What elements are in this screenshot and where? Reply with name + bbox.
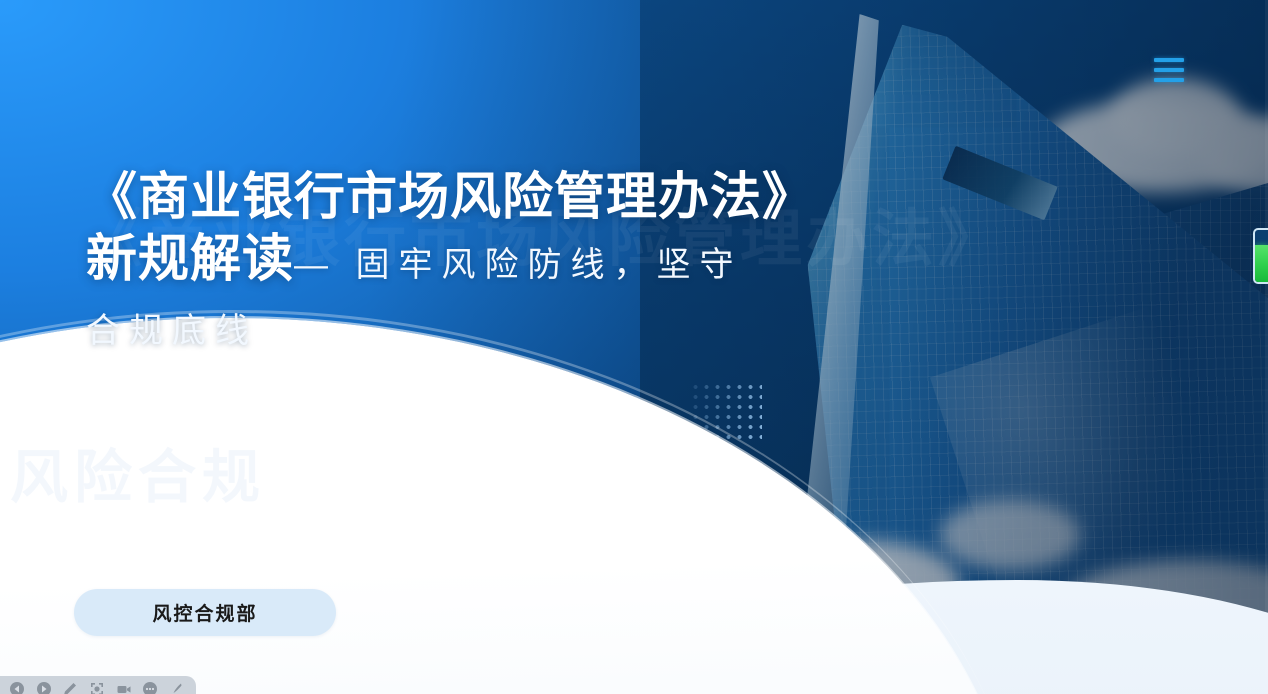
- presentation-slide: 《商业银行市场风险管理办法》 风险合规 《商业银行市场风险管理办法》 新规解读—…: [0, 0, 1268, 694]
- department-badge-label: 风控合规部: [152, 599, 257, 626]
- video-camera-icon: [116, 681, 132, 694]
- title-line-1: 《商业银行市场风险管理办法》: [86, 166, 906, 228]
- presentation-toolbar[interactable]: [0, 676, 196, 694]
- hamburger-bar-2: [1154, 68, 1184, 72]
- laser-pointer-icon: [89, 681, 105, 694]
- highlighter-icon: [169, 681, 185, 694]
- hamburger-menu-icon[interactable]: [1154, 58, 1184, 82]
- title-line-2-strong: 新规解读: [86, 230, 294, 287]
- highlighter-button[interactable]: [163, 679, 190, 694]
- laser-pointer-button[interactable]: [84, 679, 111, 694]
- title-line-3: 合规底线: [86, 303, 906, 359]
- next-slide-button[interactable]: [31, 679, 58, 694]
- more-options-button[interactable]: [137, 679, 164, 694]
- previous-slide-button[interactable]: [4, 679, 31, 694]
- pen-icon: [62, 681, 78, 694]
- title-line-2: 新规解读— 固牢风险防线，坚守: [86, 228, 906, 303]
- title-line-2-subtitle: — 固牢风险防线，坚守: [294, 246, 742, 284]
- battery-gauge-fill: [1255, 245, 1268, 282]
- cloud-decoration: [940, 500, 1080, 570]
- slide-title-block: 《商业银行市场风险管理办法》 新规解读— 固牢风险防线，坚守 合规底线: [86, 166, 906, 359]
- hamburger-bar-1: [1154, 58, 1184, 62]
- battery-gauge-indicator: [1253, 228, 1268, 284]
- record-video-button[interactable]: [110, 679, 137, 694]
- department-badge: 风控合规部: [74, 589, 336, 636]
- hamburger-bar-3: [1154, 78, 1184, 82]
- arrow-left-icon: [9, 681, 25, 694]
- pen-tool-button[interactable]: [57, 679, 84, 694]
- more-dots-icon: [142, 681, 158, 694]
- arrow-right-icon: [36, 681, 52, 694]
